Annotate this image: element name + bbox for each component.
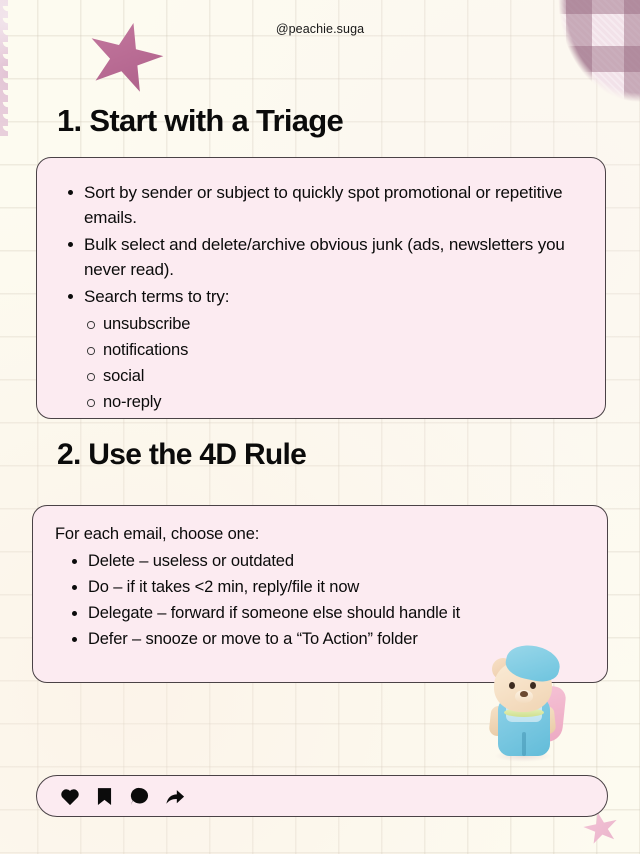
bookmark-icon[interactable] [94,786,115,807]
toy-bear-figurine [482,644,570,762]
section-1-heading: 1. Start with a Triage [57,103,343,139]
list-item: Sort by sender or subject to quickly spo… [63,180,579,230]
bear-leg-split [522,732,526,756]
post-canvas: @peachie.suga 1. Start with a Triage Sor… [0,0,640,854]
list-item: social [63,363,579,389]
list-item: Delete – useless or outdated [55,549,583,574]
heart-icon[interactable] [59,786,80,807]
section-2-intro-text: For each email, choose one: [55,522,583,546]
section-2-bullet-list: Delete – useless or outdated Do – if it … [55,549,583,652]
list-item: Bulk select and delete/archive obvious j… [63,232,579,282]
post-action-bar [36,775,608,817]
section-1-bullet-list: Sort by sender or subject to quickly spo… [63,180,579,309]
section-2-heading: 2. Use the 4D Rule [57,438,306,472]
list-item: unsubscribe [63,311,579,337]
comment-icon[interactable] [129,786,150,807]
bear-nose [520,691,528,697]
account-handle: @peachie.suga [0,22,640,36]
gingham-pattern [450,0,640,130]
list-item: notifications [63,337,579,363]
bear-eye-right [530,682,536,689]
bear-eye-left [509,682,515,689]
gingham-corner-decoration [450,0,640,130]
section-1-search-terms-list: unsubscribe notifications social no-repl… [63,311,579,415]
washi-tape-decoration [0,0,48,136]
list-item: no-reply [63,389,579,415]
share-icon[interactable] [164,786,185,807]
list-item: Search terms to try: [63,284,579,309]
washi-tape-texture [0,0,48,136]
list-item: Delegate – forward if someone else shoul… [55,601,583,626]
list-item: Do – if it takes <2 min, reply/file it n… [55,575,583,600]
section-1-card: Sort by sender or subject to quickly spo… [36,157,606,419]
